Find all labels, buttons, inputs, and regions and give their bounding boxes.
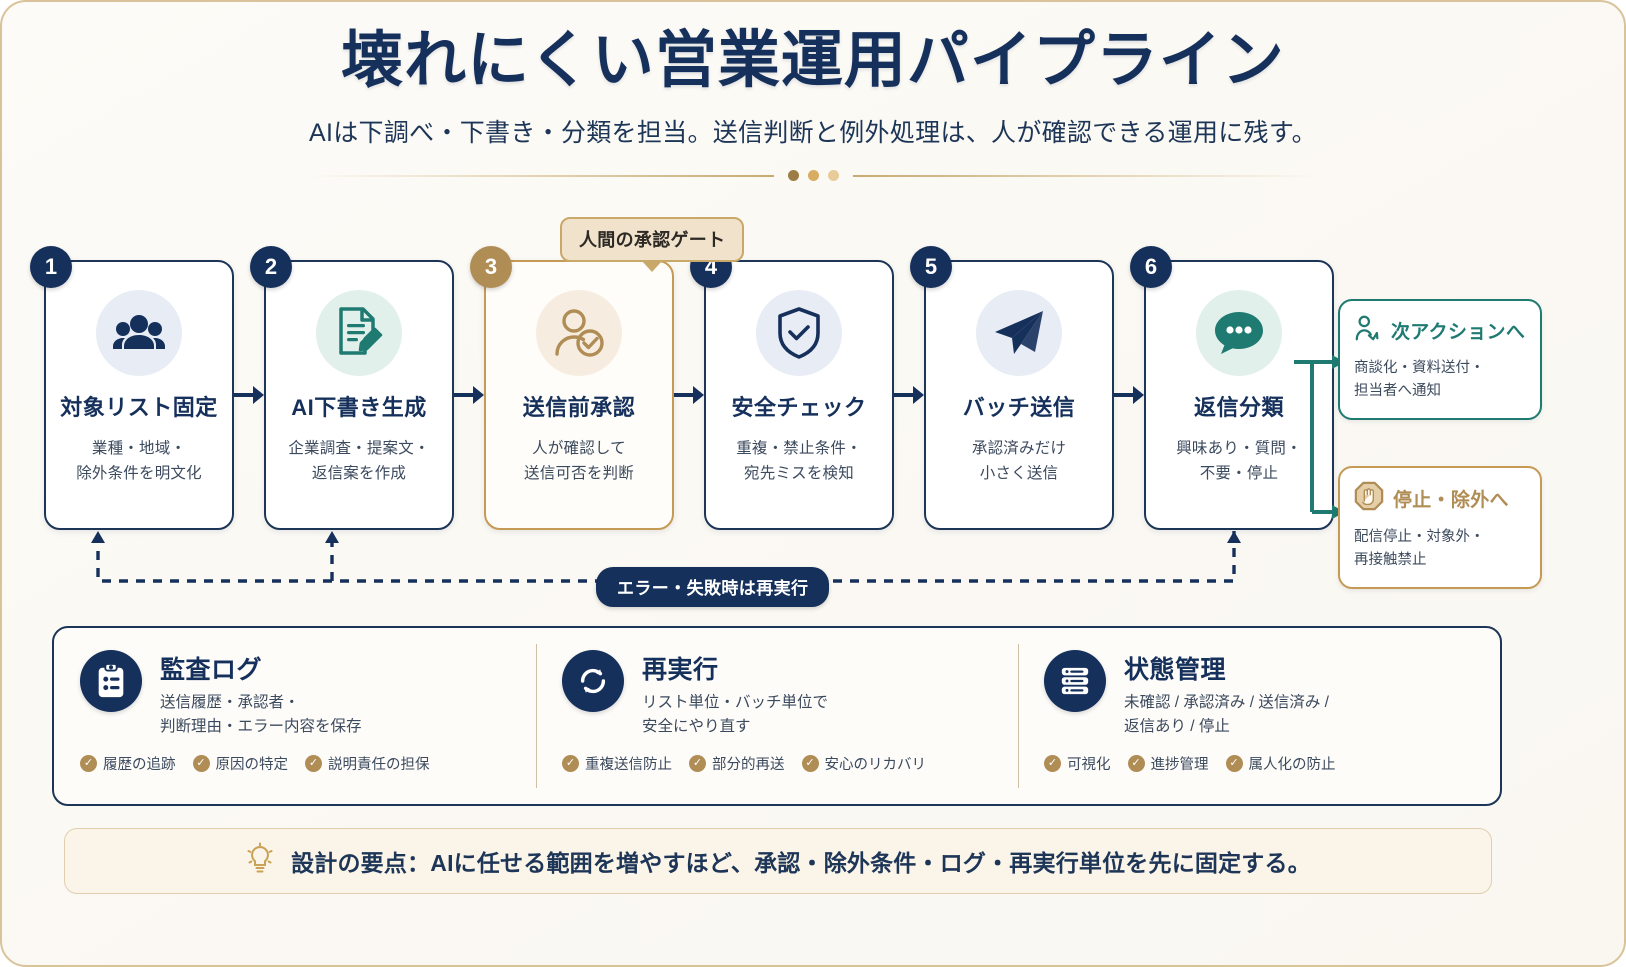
stop-hand-icon — [1354, 481, 1384, 516]
infographic-canvas: 壊れにくい営業運用パイプライン AIは下調べ・下書き・分類を担当。送信判断と例外… — [0, 0, 1626, 967]
pipeline-step-3[interactable]: 3 送信前承認 人が確認して 送信可否を判断 — [484, 260, 674, 530]
retry-label: エラー・失敗時は再実行 — [596, 567, 829, 607]
flow-arrow-icon — [894, 260, 924, 530]
ornamental-divider — [308, 169, 1318, 183]
feature-tags: ✓可視化 ✓進捗管理 ✓属人化の防止 — [1044, 753, 1480, 774]
feature-tag: ✓履歴の追跡 — [80, 753, 176, 774]
server-stack-icon — [1044, 650, 1106, 712]
step-description: 業種・地域・ 除外条件を明文化 — [76, 436, 202, 486]
paper-plane-icon — [976, 290, 1062, 376]
shield-check-icon — [756, 290, 842, 376]
flow-arrow-icon — [234, 260, 264, 530]
divider-dots — [774, 170, 853, 181]
flow-arrow-icon — [454, 260, 484, 530]
clipboard-icon — [80, 650, 142, 712]
feature-tag-label: 重複送信防止 — [585, 753, 672, 774]
feature-retry[interactable]: 再実行 リスト単位・バッチ単位で 安全にやり直す ✓重複送信防止 ✓部分的再送 … — [536, 628, 1018, 804]
feature-tag-label: 属人化の防止 — [1249, 753, 1336, 774]
feature-row: 監査ログ 送信履歴・承認者・ 判断理由・エラー内容を保存 — [80, 650, 516, 739]
pipeline-steps: 1 対象リスト固定 業種・地域・ 除外条件を明文化 2 — [44, 260, 1334, 530]
refresh-icon — [562, 650, 624, 712]
feature-tag-label: 部分的再送 — [712, 753, 785, 774]
check-icon: ✓ — [1128, 755, 1145, 772]
feature-description: 送信履歴・承認者・ 判断理由・エラー内容を保存 — [160, 691, 362, 739]
outcome-description: 配信停止・対象外・ 再接触禁止 — [1354, 526, 1526, 572]
people-group-icon — [96, 290, 182, 376]
feature-text: 監査ログ 送信履歴・承認者・ 判断理由・エラー内容を保存 — [160, 650, 362, 739]
feature-tag: ✓重複送信防止 — [562, 753, 672, 774]
chat-bubble-icon — [1196, 290, 1282, 376]
outcome-stop-exclude[interactable]: 停止・除外へ 配信停止・対象外・ 再接触禁止 — [1338, 466, 1542, 589]
feature-tag-label: 可視化 — [1067, 753, 1111, 774]
outcome-header: 停止・除外へ — [1354, 481, 1526, 516]
feature-tag: ✓属人化の防止 — [1226, 753, 1336, 774]
feature-tag-label: 説明責任の担保 — [328, 753, 430, 774]
step-description: 重複・禁止条件・ 宛先ミスを検知 — [736, 436, 862, 486]
feature-title: 再実行 — [642, 650, 828, 686]
divider-dot-icon — [788, 170, 799, 181]
gate-label: 人間の承認ゲート — [579, 230, 725, 250]
outcome-description: 商談化・資料送付・ 担当者へ通知 — [1354, 357, 1526, 403]
divider-line-right — [853, 175, 1319, 177]
step-description: 人が確認して 送信可否を判断 — [524, 436, 634, 486]
page-title: 壊れにくい営業運用パイプライン — [2, 28, 1624, 95]
feature-tag-label: 安心のリカバリ — [825, 753, 927, 774]
check-icon: ✓ — [1044, 755, 1061, 772]
feature-tag-label: 履歴の追跡 — [103, 753, 176, 774]
step-title: AI下書き生成 — [291, 390, 427, 422]
step-title: 対象リスト固定 — [60, 390, 218, 422]
feature-tags: ✓重複送信防止 ✓部分的再送 ✓安心のリカバリ — [562, 753, 998, 774]
divider-dot-icon — [828, 170, 839, 181]
feature-text: 再実行 リスト単位・バッチ単位で 安全にやり直す — [642, 650, 828, 739]
feature-description: 未確認 / 承認済み / 送信済み / 返信あり / 停止 — [1124, 691, 1329, 739]
feature-audit-log[interactable]: 監査ログ 送信履歴・承認者・ 判断理由・エラー内容を保存 ✓履歴の追跡 ✓原因の… — [54, 628, 536, 804]
check-icon: ✓ — [80, 755, 97, 772]
feature-cards: 監査ログ 送信履歴・承認者・ 判断理由・エラー内容を保存 ✓履歴の追跡 ✓原因の… — [52, 626, 1502, 806]
gate-pointer-icon — [641, 260, 663, 272]
step-number-badge: 1 — [30, 246, 72, 288]
feature-tag: ✓進捗管理 — [1128, 753, 1209, 774]
human-approval-gate-badge: 人間の承認ゲート — [560, 217, 744, 262]
feature-description: リスト単位・バッチ単位で 安全にやり直す — [642, 691, 828, 739]
feature-state-management[interactable]: 状態管理 未確認 / 承認済み / 送信済み / 返信あり / 停止 ✓可視化 … — [1018, 628, 1500, 804]
person-arrow-icon — [1354, 314, 1382, 347]
feature-tags: ✓履歴の追跡 ✓原因の特定 ✓説明責任の担保 — [80, 753, 516, 774]
outcome-next-action[interactable]: 次アクションへ 商談化・資料送付・ 担当者へ通知 — [1338, 299, 1542, 420]
check-icon: ✓ — [305, 755, 322, 772]
pipeline-step-2[interactable]: 2 AI下書き生成 企業調査・提案文・ 返信案を作成 — [264, 260, 454, 530]
feature-tag: ✓原因の特定 — [193, 753, 289, 774]
step-title: 返信分類 — [1194, 390, 1284, 422]
step-description: 企業調査・提案文・ 返信案を作成 — [288, 436, 429, 486]
feature-tag: ✓可視化 — [1044, 753, 1111, 774]
check-icon: ✓ — [1226, 755, 1243, 772]
feature-tag: ✓安心のリカバリ — [802, 753, 927, 774]
feature-tag-label: 進捗管理 — [1151, 753, 1209, 774]
divider-line-left — [308, 175, 774, 177]
outcome-title: 次アクションへ — [1391, 317, 1525, 344]
pipeline-step-4[interactable]: 4 安全チェック 重複・禁止条件・ 宛先ミスを検知 — [704, 260, 894, 530]
feature-row: 状態管理 未確認 / 承認済み / 送信済み / 返信あり / 停止 — [1044, 650, 1480, 739]
step-title: バッチ送信 — [963, 390, 1076, 422]
step-title: 送信前承認 — [523, 390, 636, 422]
flow-arrow-icon — [1114, 260, 1144, 530]
pipeline-step-1[interactable]: 1 対象リスト固定 業種・地域・ 除外条件を明文化 — [44, 260, 234, 530]
check-icon: ✓ — [689, 755, 706, 772]
lightbulb-icon — [245, 842, 275, 881]
header: 壊れにくい営業運用パイプライン AIは下調べ・下書き・分類を担当。送信判断と例外… — [2, 2, 1624, 183]
step-number-badge: 2 — [250, 246, 292, 288]
step-description: 興味あり・質問・ 不要・停止 — [1176, 436, 1302, 486]
feature-title: 監査ログ — [160, 650, 362, 686]
feature-tag: ✓説明責任の担保 — [305, 753, 430, 774]
outcome-title: 停止・除外へ — [1393, 485, 1509, 512]
check-icon: ✓ — [562, 755, 579, 772]
flow-arrow-icon — [674, 260, 704, 530]
document-pencil-icon — [316, 290, 402, 376]
feature-row: 再実行 リスト単位・バッチ単位で 安全にやり直す — [562, 650, 998, 739]
page-subtitle: AIは下調べ・下書き・分類を担当。送信判断と例外処理は、人が確認できる運用に残す… — [2, 113, 1624, 149]
user-check-icon — [536, 290, 622, 376]
feature-title: 状態管理 — [1124, 650, 1329, 686]
feature-tag: ✓部分的再送 — [689, 753, 785, 774]
outcome-header: 次アクションへ — [1354, 314, 1526, 347]
step-title: 安全チェック — [731, 390, 866, 422]
pipeline-step-5[interactable]: 5 バッチ送信 承認済みだけ 小さく送信 — [924, 260, 1114, 530]
design-tip-banner: 設計の要点：AIに任せる範囲を増やすほど、承認・除外条件・ログ・再実行単位を先に… — [64, 828, 1492, 894]
step-number-badge: 6 — [1130, 246, 1172, 288]
step-number-badge: 5 — [910, 246, 952, 288]
check-icon: ✓ — [193, 755, 210, 772]
feature-tag-label: 原因の特定 — [216, 753, 289, 774]
check-icon: ✓ — [802, 755, 819, 772]
design-tip-text: 設計の要点：AIに任せる範囲を増やすほど、承認・除外条件・ログ・再実行単位を先に… — [291, 844, 1311, 878]
feature-text: 状態管理 未確認 / 承認済み / 送信済み / 返信あり / 停止 — [1124, 650, 1329, 739]
divider-dot-icon — [808, 170, 819, 181]
step-description: 承認済みだけ 小さく送信 — [972, 436, 1066, 486]
step-number-badge: 3 — [470, 246, 512, 288]
